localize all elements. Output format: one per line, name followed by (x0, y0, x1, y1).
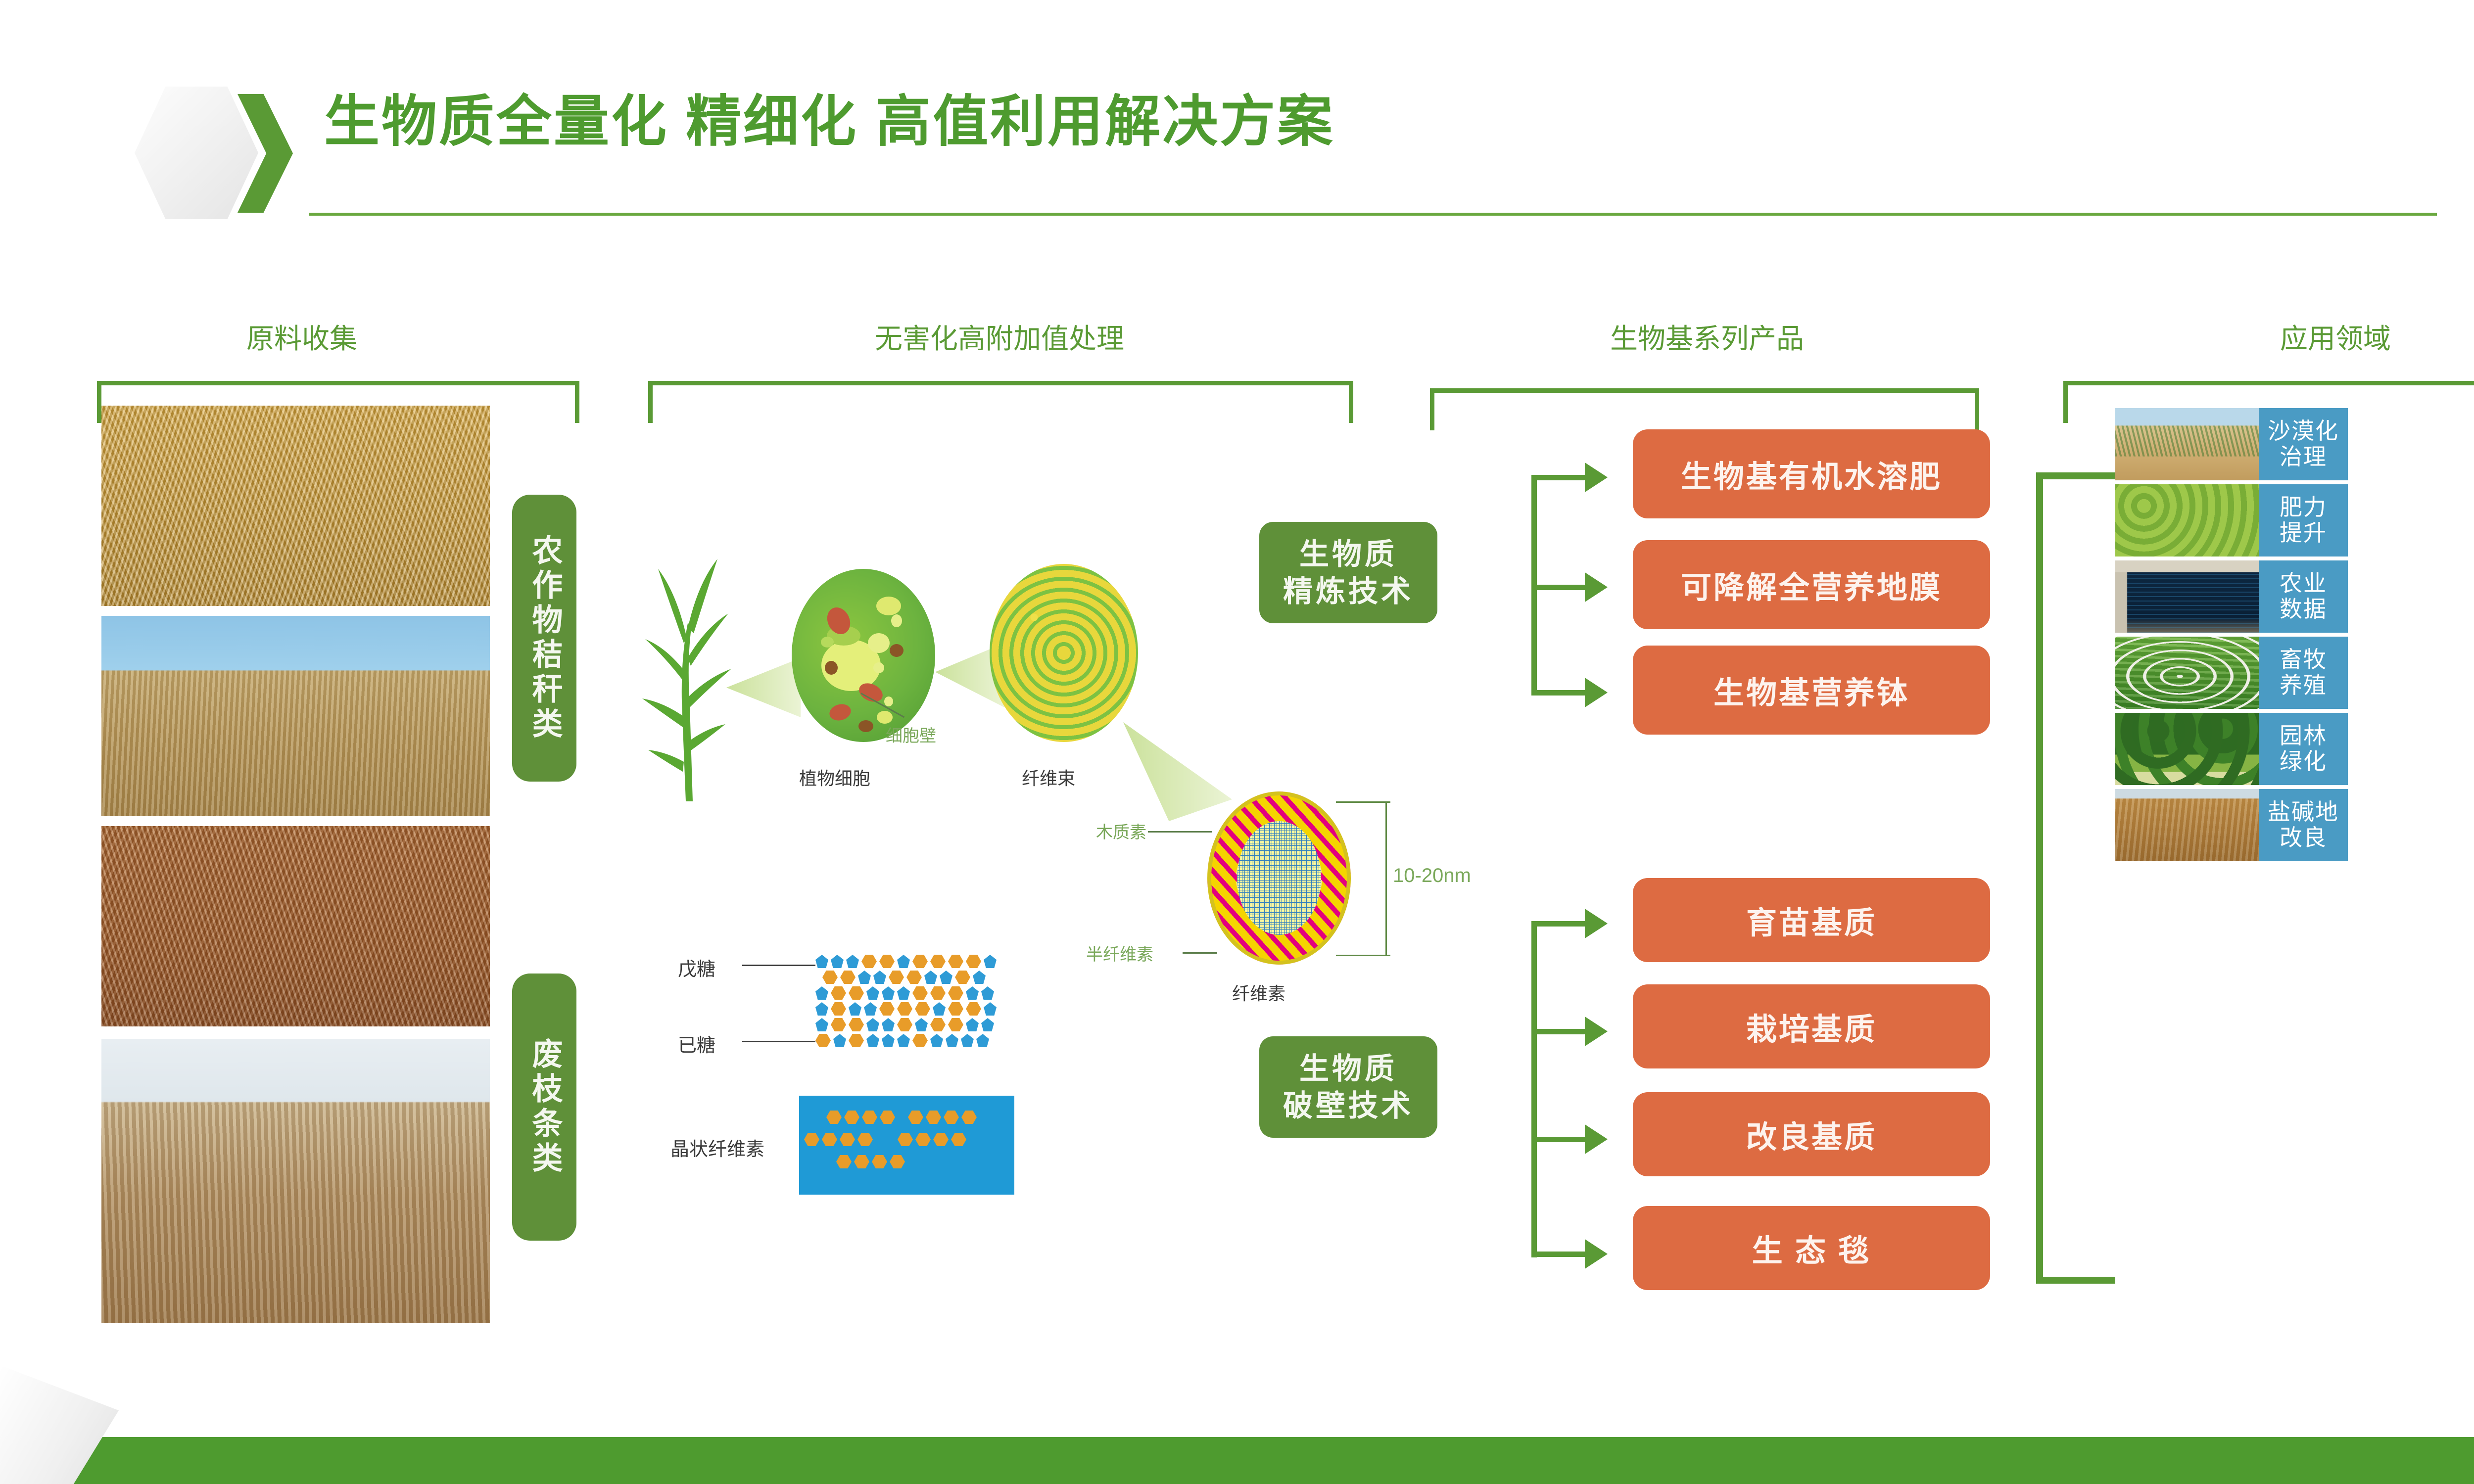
product-box-water-soluble-fertilizer[interactable]: 生物基有机水溶肥 (1633, 429, 1990, 518)
crystalline-cellulose-panel (799, 1096, 1014, 1195)
plant-cell-illustration (792, 569, 935, 742)
label-cellulose: 纤维素 (1232, 979, 1285, 1005)
photo-saline-land (2115, 789, 2259, 861)
photo-park-trees (2115, 713, 2259, 785)
section-title-processing: 无害化高附加值处理 (628, 317, 1371, 357)
bracket-to-applications (2036, 472, 2115, 1284)
bracket-processing (648, 381, 1353, 423)
bracket-products (1430, 388, 1979, 430)
app-line-2: 改良 (2280, 825, 2327, 851)
app-line-1: 畜牧 (2280, 647, 2327, 673)
arrow-2d (1585, 1239, 1608, 1269)
connector-arm-1b (1531, 585, 1586, 590)
app-line-1: 肥力 (2280, 495, 2327, 520)
application-label-saline-alkali: 盐碱地 改良 (2259, 789, 2348, 861)
arrow-1c (1585, 678, 1608, 707)
application-row-desertification[interactable]: 沙漠化 治理 (2115, 408, 2348, 480)
header-hexagon-badge (135, 87, 258, 219)
label-dimension: 10-20nm (1393, 865, 1471, 887)
connector-arm-2b (1531, 1029, 1586, 1034)
connector-trunk-2 (1531, 921, 1537, 1257)
photo-cabbage-field (2115, 484, 2259, 556)
application-label-livestock: 畜牧 养殖 (2259, 637, 2348, 709)
tech-line-1: 生物质 (1299, 1050, 1397, 1087)
product-box-improvement-substrate[interactable]: 改良基质 (1633, 1092, 1990, 1176)
label-crystalline-cellulose: 晶状纤维素 (670, 1134, 764, 1161)
app-line-2: 数据 (2280, 597, 2327, 622)
section-title-products: 生物基系列产品 (1435, 317, 1979, 357)
label-pentose: 戊糖 (678, 954, 715, 981)
leader-line-pentose (742, 965, 815, 966)
page-title: 生物质全量化 精细化 高值利用解决方案 (324, 94, 1334, 149)
label-lignin: 木质素 (1096, 819, 1146, 843)
app-line-1: 农业 (2280, 571, 2327, 597)
photo-grazing-sheep (2115, 637, 2259, 709)
sugar-chain-diagram (815, 955, 997, 1047)
application-row-greening[interactable]: 园林 绿化 (2115, 713, 2348, 785)
tech-line-1: 生物质 (1299, 536, 1397, 573)
app-line-2: 绿化 (2280, 749, 2327, 775)
product-box-cultivation-substrate[interactable]: 栽培基质 (1633, 984, 1990, 1068)
connector-arm-2a (1531, 921, 1586, 927)
title-underline (309, 213, 2437, 216)
photo-desert-site (2115, 408, 2259, 480)
application-label-desertification: 沙漠化 治理 (2259, 408, 2348, 480)
connector-arm-2c (1531, 1137, 1586, 1142)
app-line-1: 盐碱地 (2268, 799, 2339, 825)
footer-bar (0, 1437, 2474, 1484)
application-label-greening: 园林 绿化 (2259, 713, 2348, 785)
app-line-2: 提升 (2280, 520, 2327, 546)
arrow-2c (1585, 1124, 1608, 1154)
arrow-2b (1585, 1017, 1608, 1046)
application-label-agri-data: 农业 数据 (2259, 560, 2348, 633)
product-box-degradable-mulch-film[interactable]: 可降解全营养地膜 (1633, 540, 1990, 629)
application-label-fertility: 肥力 提升 (2259, 484, 2348, 556)
zoom-cone-3 (1123, 722, 1232, 821)
product-box-ecological-blanket[interactable]: 生 态 毯 (1633, 1206, 1990, 1290)
app-line-2: 养殖 (2280, 673, 2327, 698)
applications-column: 沙漠化 治理 肥力 提升 农业 数据 畜牧 养殖 园林 绿化 (2115, 408, 2348, 861)
dimension-top-tick (1336, 801, 1390, 803)
label-plant-cell: 植物细胞 (799, 764, 870, 790)
photo-straw-bale-field (101, 616, 490, 816)
application-row-agri-data[interactable]: 农业 数据 (2115, 560, 2348, 633)
photo-data-control-room (2115, 560, 2259, 633)
application-row-livestock[interactable]: 畜牧 养殖 (2115, 637, 2348, 709)
tech-box-cell-wall-breaking[interactable]: 生物质 破壁技术 (1259, 1036, 1437, 1138)
arrow-1a (1585, 463, 1608, 492)
product-box-seedling-substrate[interactable]: 育苗基质 (1633, 878, 1990, 962)
connector-arm-1a (1531, 475, 1586, 480)
product-box-nutrition-pot[interactable]: 生物基营养钵 (1633, 646, 1990, 735)
cellulose-core (1237, 821, 1321, 935)
section-title-applications: 应用领域 (2113, 317, 2474, 357)
dimension-bottom-tick (1336, 955, 1390, 956)
photo-dry-branches (101, 826, 490, 1026)
application-row-fertility[interactable]: 肥力 提升 (2115, 484, 2348, 556)
label-hemicellulose: 半纤维素 (1086, 941, 1153, 965)
arrow-2a (1585, 909, 1608, 938)
leader-line-lignin (1148, 831, 1212, 833)
photo-orchard-pruning (101, 1039, 490, 1323)
plant-silhouette-icon (638, 554, 737, 801)
label-hexose: 已糖 (678, 1030, 715, 1057)
tech-line-2: 破壁技术 (1283, 1087, 1414, 1124)
connector-arm-1c (1531, 690, 1586, 696)
arrow-1b (1585, 572, 1608, 602)
leader-line-hexose (742, 1041, 815, 1042)
category-label-crop-straw: 农作物秸秆类 (512, 495, 576, 782)
zoom-cone-1 (726, 658, 801, 717)
dimension-vertical-line (1385, 801, 1387, 956)
app-line-1: 沙漠化 (2268, 418, 2339, 444)
label-cell-wall: 细胞壁 (886, 722, 936, 746)
tech-line-2: 精炼技术 (1283, 573, 1414, 610)
fiber-bundle-illustration (990, 564, 1138, 742)
category-label-waste-branches: 废枝条类 (512, 974, 576, 1241)
photo-corn-straw-field (101, 406, 490, 606)
leader-line-hemicellulose (1183, 952, 1217, 954)
section-title-collection: 原料收集 (163, 317, 440, 357)
app-line-2: 治理 (2280, 444, 2327, 470)
app-line-1: 园林 (2280, 723, 2327, 749)
label-fiber-bundle: 纤维束 (1022, 764, 1075, 790)
connector-arm-2d (1531, 1252, 1586, 1257)
application-row-saline-alkali[interactable]: 盐碱地 改良 (2115, 789, 2348, 861)
tech-box-biomass-refining[interactable]: 生物质 精炼技术 (1259, 522, 1437, 623)
